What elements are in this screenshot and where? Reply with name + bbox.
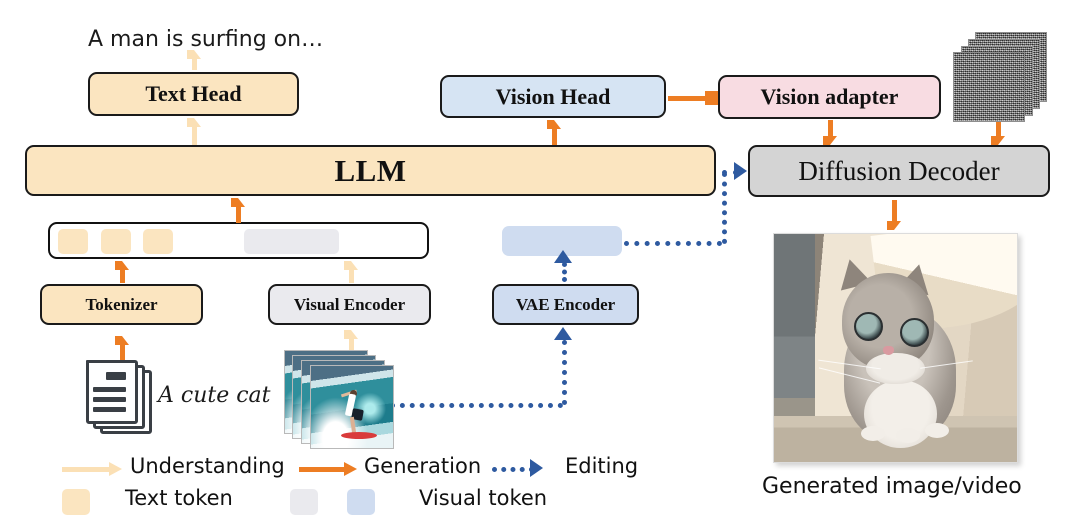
legend-editing-label: Editing bbox=[565, 454, 638, 478]
output-caption: Generated image/video bbox=[762, 474, 1022, 499]
tokenizer-node[interactable]: Tokenizer bbox=[40, 284, 203, 325]
editing-path-video-horizontal bbox=[390, 403, 563, 408]
text-token-1 bbox=[58, 229, 88, 254]
input-prompt-label: A cute cat bbox=[158, 383, 271, 408]
editing-path-video-vertical bbox=[562, 340, 567, 405]
diagram-canvas: A man is surfing on… Text Head Vision He… bbox=[0, 0, 1073, 522]
noise-latent-stack bbox=[953, 32, 1047, 120]
vae-encoder-node[interactable]: VAE Encoder bbox=[492, 284, 639, 325]
text-token-3 bbox=[143, 229, 173, 254]
output-text-label: A man is surfing on… bbox=[88, 27, 323, 52]
editing-path-vertical bbox=[722, 172, 727, 244]
legend-generation-label: Generation bbox=[364, 454, 481, 478]
input-video-frames bbox=[284, 350, 394, 448]
text-head-node[interactable]: Text Head bbox=[88, 72, 299, 116]
legend-visual-token-gray-swatch bbox=[290, 489, 318, 515]
token-sequence-container bbox=[48, 222, 429, 259]
diffusion-decoder-node[interactable]: Diffusion Decoder bbox=[748, 145, 1050, 197]
legend-visual-token-blue-swatch bbox=[347, 489, 375, 515]
legend-text-token-swatch bbox=[62, 489, 90, 515]
visual-token-gray bbox=[244, 229, 339, 254]
llm-node[interactable]: LLM bbox=[25, 145, 716, 196]
editing-arrowhead-decoder bbox=[734, 162, 747, 180]
visual-encoder-node[interactable]: Visual Encoder bbox=[268, 284, 431, 325]
editing-arrowhead-vae bbox=[554, 327, 572, 340]
legend-visual-token-label: Visual token bbox=[419, 486, 547, 510]
document-icon bbox=[84, 360, 154, 432]
legend-understanding-label: Understanding bbox=[130, 454, 285, 478]
legend-text-token-label: Text token bbox=[125, 486, 233, 510]
editing-path-token-horizontal bbox=[624, 241, 722, 246]
legend: Understanding Generation Editing Text to… bbox=[0, 448, 700, 522]
legend-editing-arrowhead-icon bbox=[530, 459, 543, 477]
editing-arrowhead-token bbox=[554, 250, 572, 263]
vision-adapter-node[interactable]: Vision adapter bbox=[718, 75, 941, 119]
editing-path-vae-to-token bbox=[562, 262, 567, 282]
legend-editing-dotted-line bbox=[492, 467, 534, 472]
text-token-2 bbox=[101, 229, 131, 254]
vision-head-node[interactable]: Vision Head bbox=[440, 75, 666, 118]
generated-kitten-image bbox=[773, 233, 1018, 463]
